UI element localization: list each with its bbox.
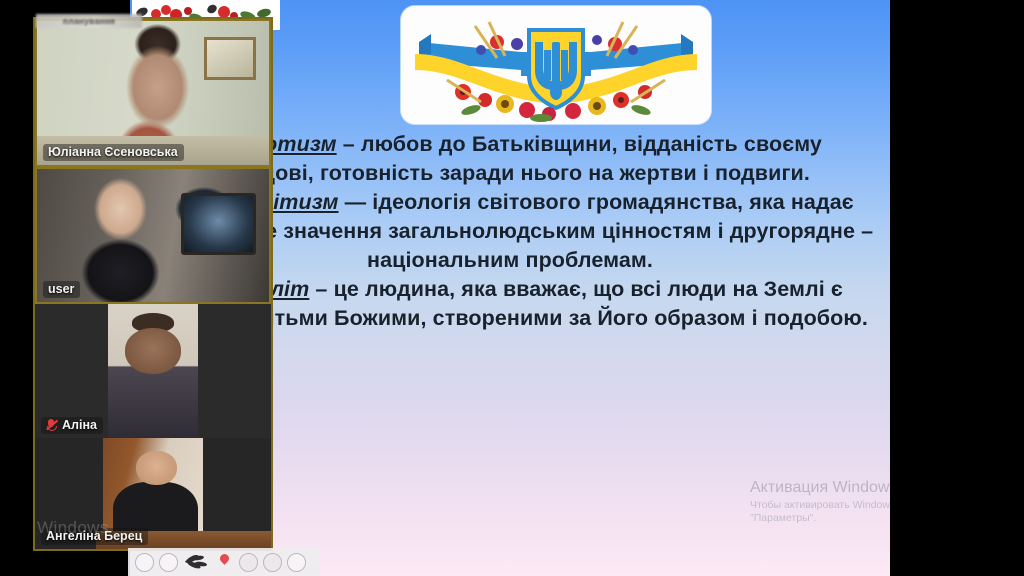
participant-name: Ангеліна Берец (46, 529, 142, 543)
microphone-muted-icon (46, 419, 57, 432)
participant-name-label: user (43, 281, 80, 298)
pin-icon[interactable] (214, 553, 234, 572)
toolbar-circle-button-2[interactable] (159, 553, 178, 572)
decor-wall-picture (204, 37, 256, 80)
window-title-text: планування (36, 14, 142, 28)
participant-name: user (48, 282, 74, 296)
decor-face (136, 451, 176, 484)
decor-television (181, 193, 257, 255)
participant-name: Юліанна Єсеновська (48, 145, 178, 159)
participant-name-label: Аліна (41, 417, 103, 434)
toolbar-circle-button-1[interactable] (135, 553, 154, 572)
participant-name-label: Ангеліна Берец (41, 528, 148, 545)
participant-name: Аліна (62, 418, 97, 432)
background-window-toolbar[interactable] (128, 548, 320, 576)
watermark-subtitle: Чтобы активировать Windows, перейдите в … (750, 499, 890, 525)
watermark-title: Активация Windows (750, 478, 890, 497)
leaf-icon[interactable] (183, 552, 209, 572)
participant-filmstrip[interactable]: Юліанна Єсеновська user Аліна Ангеліна Б… (33, 17, 273, 551)
participant-name-label: Юліанна Єсеновська (43, 144, 184, 161)
toolbar-circle-button-5[interactable] (287, 553, 306, 572)
ukrainian-coat-of-arms-banner-icon (401, 6, 711, 124)
participant-tile[interactable]: user (35, 167, 271, 304)
decor-face (125, 328, 182, 374)
toolbar-circle-button-4[interactable] (263, 553, 282, 572)
toolbar-circle-button-3[interactable] (239, 553, 258, 572)
participant-tile[interactable]: Ангеліна Берец (35, 438, 271, 549)
windows-activation-watermark: Активация Windows Чтобы активировать Win… (750, 478, 890, 525)
window-title-blurred: планування (36, 14, 142, 28)
participant-tile[interactable]: Юліанна Єсеновська (35, 19, 271, 167)
participant-tile[interactable]: Аліна (35, 304, 271, 438)
